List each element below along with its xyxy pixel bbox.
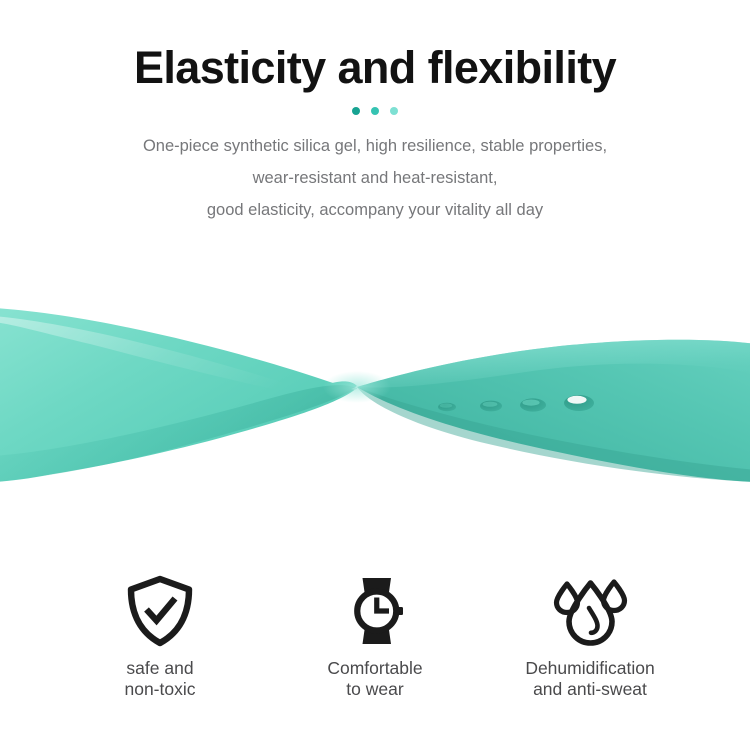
- feature-label-comfortable: Comfortable to wear: [268, 658, 483, 700]
- feature-label-line-2: to wear: [268, 679, 483, 700]
- subtitle-line-2: wear-resistant and heat-resistant,: [0, 162, 750, 194]
- feature-label-line-2: non-toxic: [53, 679, 268, 700]
- wristwatch-icon: [268, 572, 483, 650]
- subtitle-line-3: good elasticity, accompany your vitality…: [0, 194, 750, 226]
- adjustment-hole-4: [564, 395, 594, 411]
- product-image: [0, 270, 750, 520]
- adjustment-hole-1: [438, 403, 456, 411]
- product-feature-banner: Elasticity and flexibility One-piece syn…: [0, 0, 750, 750]
- feature-label-safe: safe and non-toxic: [53, 658, 268, 700]
- feature-label-line-1: Dehumidification: [483, 658, 698, 679]
- water-droplets-icon: [483, 572, 698, 650]
- feature-safe-non-toxic: safe and non-toxic: [53, 572, 268, 700]
- header-block: Elasticity and flexibility One-piece syn…: [0, 0, 750, 226]
- subtitle-line-1: One-piece synthetic silica gel, high res…: [0, 130, 750, 162]
- band-twist-point: [323, 371, 391, 403]
- feature-label-line-2: and anti-sweat: [483, 679, 698, 700]
- subtitle-block: One-piece synthetic silica gel, high res…: [0, 130, 750, 226]
- dot-divider: [0, 106, 750, 116]
- feature-dehumidification: Dehumidification and anti-sweat: [483, 572, 698, 700]
- divider-dot-3: [390, 107, 398, 115]
- feature-label-line-1: Comfortable: [268, 658, 483, 679]
- adjustment-hole-2: [480, 401, 502, 412]
- feature-label-line-1: safe and: [53, 658, 268, 679]
- page-title: Elasticity and flexibility: [0, 0, 750, 93]
- divider-dot-1: [352, 107, 360, 115]
- adjustment-hole-3: [520, 398, 546, 411]
- feature-row: safe and non-toxic: [0, 572, 750, 700]
- feature-label-dehumidification: Dehumidification and anti-sweat: [483, 658, 698, 700]
- feature-comfortable-to-wear: Comfortable to wear: [268, 572, 483, 700]
- shield-check-icon: [53, 572, 268, 650]
- divider-dot-2: [371, 107, 379, 115]
